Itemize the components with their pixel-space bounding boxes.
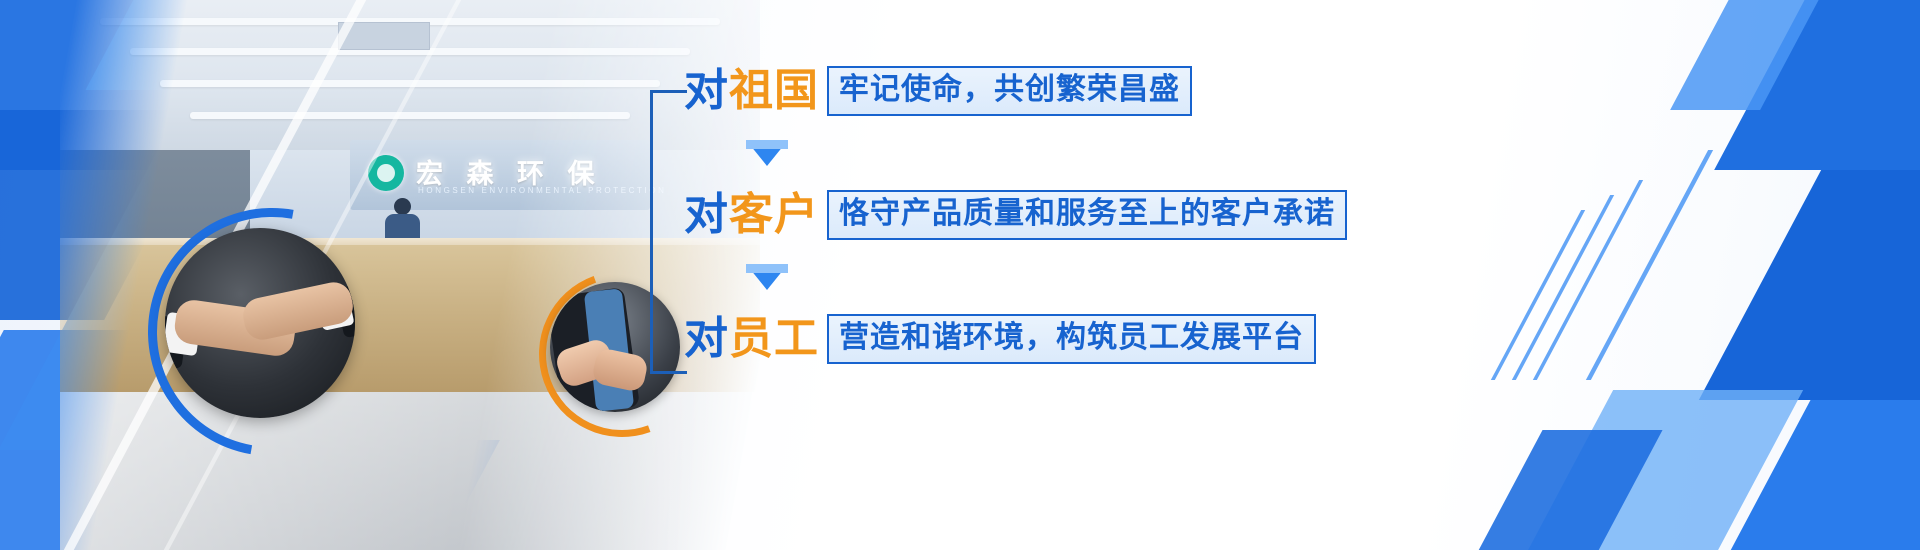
statement-row-customer: 对客户 恪守产品质量和服务至上的客户承诺: [684, 184, 1384, 246]
ceiling-light-4: [190, 112, 630, 119]
down-arrow-icon-2: [746, 264, 788, 290]
culture-statements: 对祖国 牢记使命，共创繁荣昌盛 对客户 恪守产品质量和服务至上的客户承诺: [650, 60, 1390, 500]
company-culture-banner: 宏 森 环 保 HONGSEN ENVIRONMENTAL PROTECTION: [0, 0, 1920, 550]
statement-box-customer: 恪守产品质量和服务至上的客户承诺: [827, 190, 1347, 240]
down-arrow-icon-1: [746, 140, 788, 166]
label-key-employee: 员工: [729, 313, 819, 364]
label-key-country: 祖国: [729, 65, 819, 116]
label-prefix-customer: 对: [684, 189, 729, 240]
statement-label-customer: 对客户: [684, 193, 819, 237]
label-prefix-country: 对: [684, 65, 729, 116]
arrow-row-1: [684, 122, 1384, 184]
company-logo-subtext: HONGSEN ENVIRONMENTAL PROTECTION: [418, 186, 667, 195]
statement-box-country: 牢记使命，共创繁荣昌盛: [827, 66, 1192, 116]
figure-head: [394, 198, 411, 215]
label-prefix-employee: 对: [684, 313, 729, 364]
statement-label-employee: 对员工: [684, 317, 819, 361]
statement-text-customer: 恪守产品质量和服务至上的客户承诺: [839, 196, 1335, 231]
arrow-row-2: [684, 246, 1384, 308]
handshake-circle-photo: [165, 228, 355, 418]
statement-text-country: 牢记使命，共创繁荣昌盛: [839, 72, 1180, 107]
statement-row-country: 对祖国 牢记使命，共创繁荣昌盛: [684, 60, 1384, 122]
statement-rows: 对祖国 牢记使命，共创繁荣昌盛 对客户 恪守产品质量和服务至上的客户承诺: [684, 60, 1384, 370]
statement-box-employee: 营造和谐环境，构筑员工发展平台: [827, 314, 1316, 364]
label-key-customer: 客户: [729, 189, 819, 240]
statement-text-employee: 营造和谐环境，构筑员工发展平台: [839, 320, 1304, 355]
statement-label-country: 对祖国: [684, 69, 819, 113]
bracket-connector: [650, 90, 687, 374]
statement-row-employee: 对员工 营造和谐环境，构筑员工发展平台: [684, 308, 1384, 370]
